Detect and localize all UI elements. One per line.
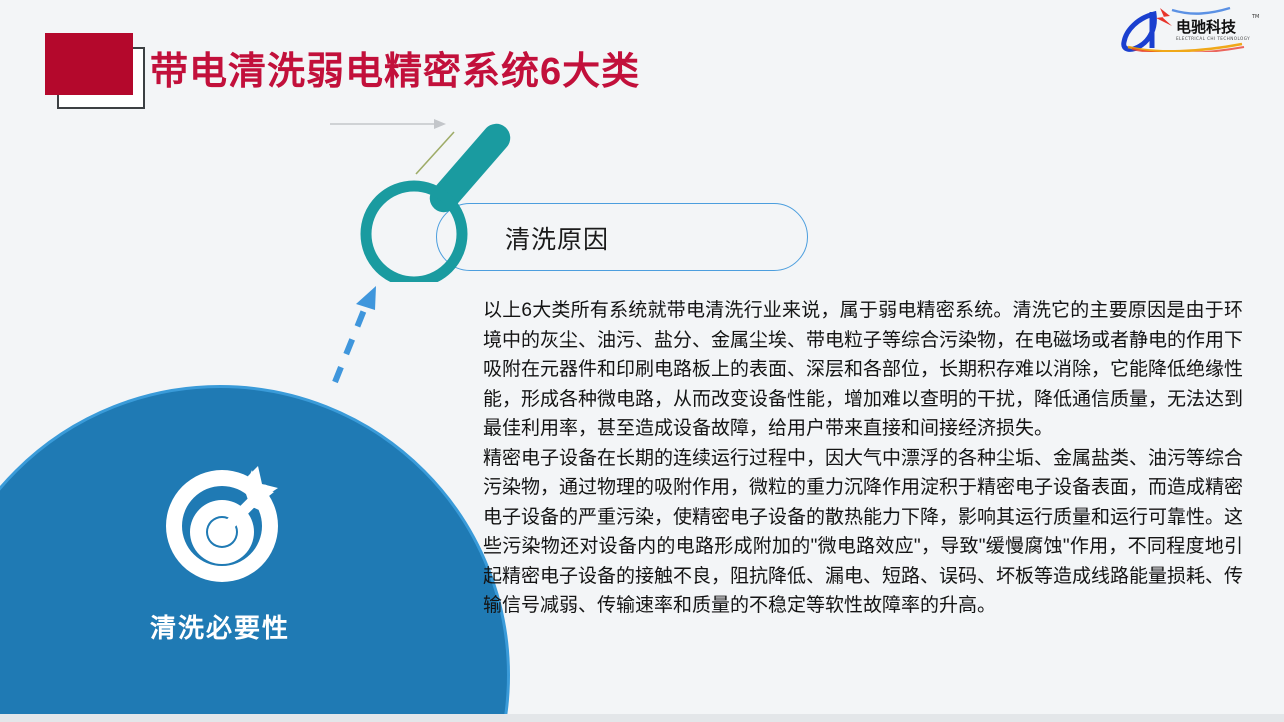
page-title: 带电清洗弱电精密系统6大类 (150, 40, 640, 95)
slide-canvas: 电驰科技 ELECTRICAL CHI TECHNOLOGY TM 带电清洗弱电… (0, 0, 1284, 722)
magnifier-icon (352, 112, 532, 282)
logo-mark-icon: 电驰科技 ELECTRICAL CHI TECHNOLOGY TM (1092, 4, 1270, 52)
dashed-arrow-icon (320, 280, 400, 390)
company-logo: 电驰科技 ELECTRICAL CHI TECHNOLOGY TM (1092, 4, 1270, 52)
body-paragraph-2: 精密电子设备在长期的连续运行过程中，因大气中漂浮的各种尘垢、金属盐类、油污等综合… (483, 444, 1243, 621)
bottom-strip (0, 714, 1284, 722)
svg-text:电驰科技: 电驰科技 (1176, 18, 1237, 36)
target-arrow-icon (152, 450, 292, 590)
body-text-block: 以上6大类所有系统就带电清洗行业来说，属于弱电精密系统。清洗它的主要原因是由于环… (483, 296, 1243, 621)
title-accent-square (45, 33, 133, 95)
necessity-label: 清洗必要性 (0, 608, 440, 645)
svg-text:ELECTRICAL CHI TECHNOLOGY: ELECTRICAL CHI TECHNOLOGY (1176, 36, 1250, 41)
body-paragraph-1: 以上6大类所有系统就带电清洗行业来说，属于弱电精密系统。清洗它的主要原因是由于环… (483, 296, 1243, 444)
svg-text:TM: TM (1251, 14, 1259, 20)
